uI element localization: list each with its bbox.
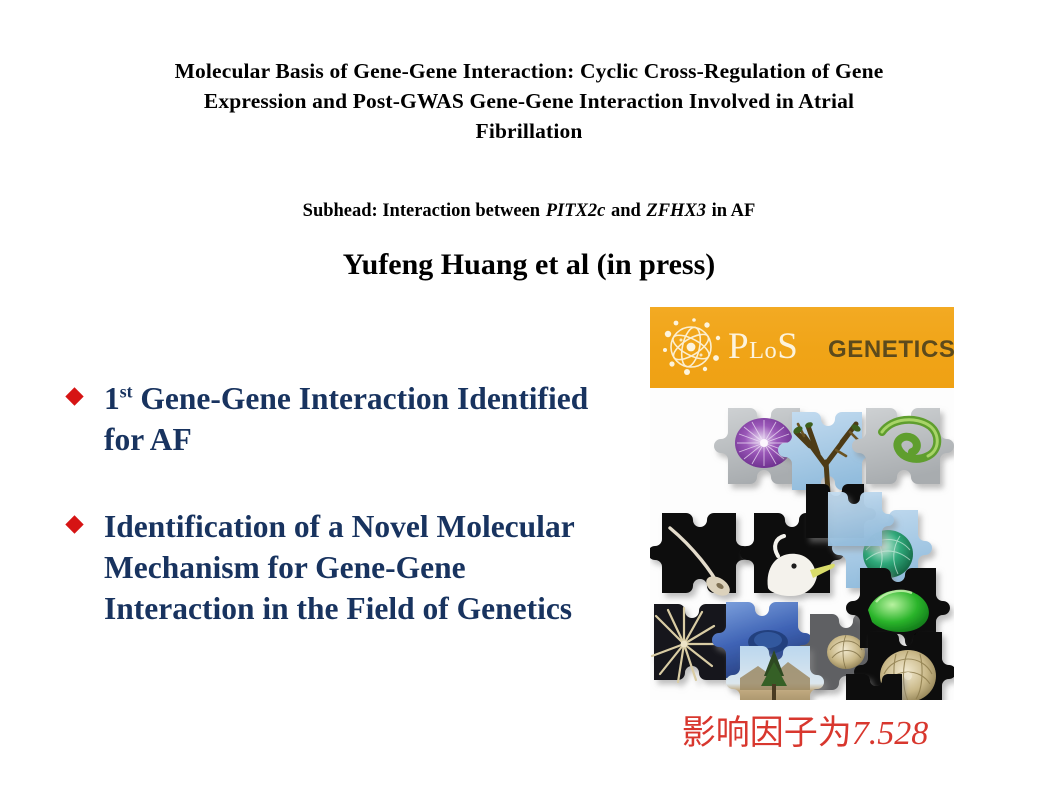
plos-wordmark: PLoS [728, 325, 798, 373]
bullet-text-2: Identification of a Novel Molecular Mech… [104, 509, 574, 626]
page-title: Molecular Basis of Gene-Gene Interaction… [18, 56, 1040, 146]
impact-factor-caption: 影响因子为7.528 [650, 712, 960, 756]
bullet-list: 1st Gene-Gene Interaction Identified for… [58, 378, 618, 629]
subhead-suffix: in AF [707, 201, 755, 221]
list-item: Identification of a Novel Molecular Mech… [58, 506, 618, 629]
author-line: Yufeng Huang et al (in press) [18, 246, 1040, 284]
bullet-ordinal-suffix: st [120, 382, 133, 402]
gene-name-zfhx3: ZFHX3 [645, 201, 707, 221]
subhead-middle: and [606, 201, 645, 221]
diamond-bullet-icon [65, 387, 83, 405]
subhead: Subhead: Interaction between PITX2c and … [18, 199, 1040, 223]
diamond-bullet-icon [65, 515, 83, 533]
gene-name-pitx2c: PITX2c [545, 201, 607, 221]
puzzle-pieces-artwork [650, 388, 954, 700]
plos-genetics-banner: PLoS GENETICS [650, 307, 954, 388]
bullet-text-1: 1st Gene-Gene Interaction Identified for… [104, 381, 588, 457]
impact-factor-label: 影响因子为 [682, 715, 852, 752]
puzzle-piece-landscape [726, 646, 824, 700]
title-line-1: Molecular Basis of Gene-Gene Interaction… [18, 56, 1040, 86]
title-line-3: Fibrillation [18, 116, 1040, 146]
genetics-wordmark: GENETICS [828, 336, 954, 364]
subhead-prefix: Subhead: Interaction between [303, 201, 545, 221]
bullet-lead-number: 1 [104, 381, 120, 416]
list-item: 1st Gene-Gene Interaction Identified for… [58, 378, 618, 460]
slide-canvas: { "slide": { "title_lines": [ "Molecular… [0, 0, 1058, 793]
bullet-body-1: Gene-Gene Interaction Identified for AF [104, 381, 588, 457]
impact-factor-value: 7.528 [852, 715, 929, 752]
journal-cover-image: PLoS GENETICS [650, 307, 954, 700]
puzzle-artwork-svg [650, 388, 954, 700]
plos-logo-icon [660, 316, 724, 380]
title-line-2: Expression and Post-GWAS Gene-Gene Inter… [18, 86, 1040, 116]
